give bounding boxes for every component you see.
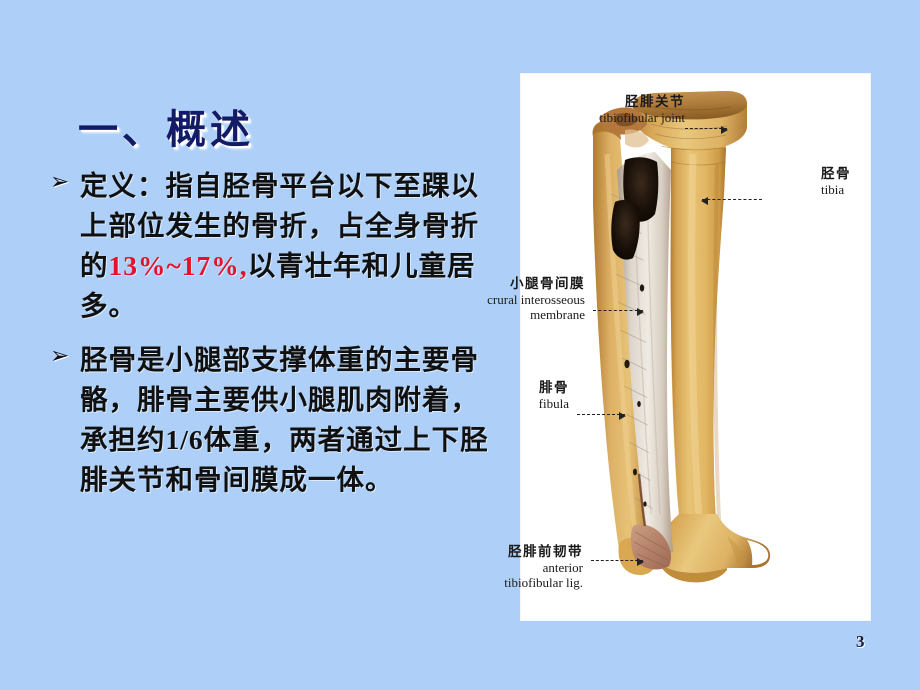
list-item-text: 胫骨是小腿部支撑体重的主要骨骼，腓骨主要供小腿肌肉附着，承担约1/6体重，两者通… (80, 340, 500, 500)
label-fibula-en: fibula (55, 396, 569, 411)
leader-line-anterior-tibiofibular-lig (591, 560, 643, 562)
anatomy-illustration (521, 74, 870, 620)
label-tibiofibular-joint: 胫腓关节 tibiofibular joint (55, 94, 685, 125)
label-tibiofibular-joint-cn: 胫腓关节 (55, 94, 685, 110)
arrow-bullet-icon: ➢ (50, 166, 80, 193)
slide-number: 3 (856, 632, 865, 652)
label-interosseous-membrane-cn: 小腿骨间膜 (55, 276, 585, 292)
list-item: ➢ 胫骨是小腿部支撑体重的主要骨骼，腓骨主要供小腿肌肉附着，承担约1/6体重，两… (50, 340, 500, 500)
leader-line-fibula (577, 414, 625, 416)
label-tibia-en: tibia (821, 182, 911, 197)
label-fibula: 腓骨 fibula (55, 380, 569, 411)
label-tibiofibular-joint-en: tibiofibular joint (55, 110, 685, 125)
label-anterior-tibiofibular-lig-cn: 胫腓前韧带 (55, 544, 583, 560)
label-anterior-tibiofibular-lig-en-line2: tibiofibular lig. (55, 575, 583, 590)
label-anterior-tibiofibular-lig-en-line1: anterior (55, 560, 583, 575)
leg-bones-specimen-image (521, 74, 870, 620)
label-anterior-tibiofibular-lig: 胫腓前韧带 anterior tibiofibular lig. (55, 544, 583, 590)
arrow-bullet-icon: ➢ (50, 340, 80, 367)
label-tibia: 胫骨 tibia (821, 166, 911, 197)
anatomy-figure-panel: 胫腓关节 tibiofibular joint 胫骨 tibia 小腿骨间膜 c… (521, 74, 870, 620)
leader-line-tibiofibular-joint (685, 128, 727, 130)
label-interosseous-membrane-en-line1: crural interosseous (55, 292, 585, 307)
label-interosseous-membrane: 小腿骨间膜 crural interosseous membrane (55, 276, 585, 322)
label-tibia-cn: 胫骨 (821, 166, 911, 182)
label-interosseous-membrane-en-line2: membrane (55, 307, 585, 322)
label-fibula-cn: 腓骨 (55, 380, 569, 396)
bullet-list: ➢ 定义：指自胫骨平台以下至踝以上部位发生的骨折，占全身骨折的13%~17%,以… (50, 166, 500, 514)
leader-line-tibia (702, 199, 762, 201)
leader-line-interosseous-membrane (593, 310, 643, 312)
presentation-slide: 一、概述 ➢ 定义：指自胫骨平台以下至踝以上部位发生的骨折，占全身骨折的13%~… (0, 0, 920, 690)
